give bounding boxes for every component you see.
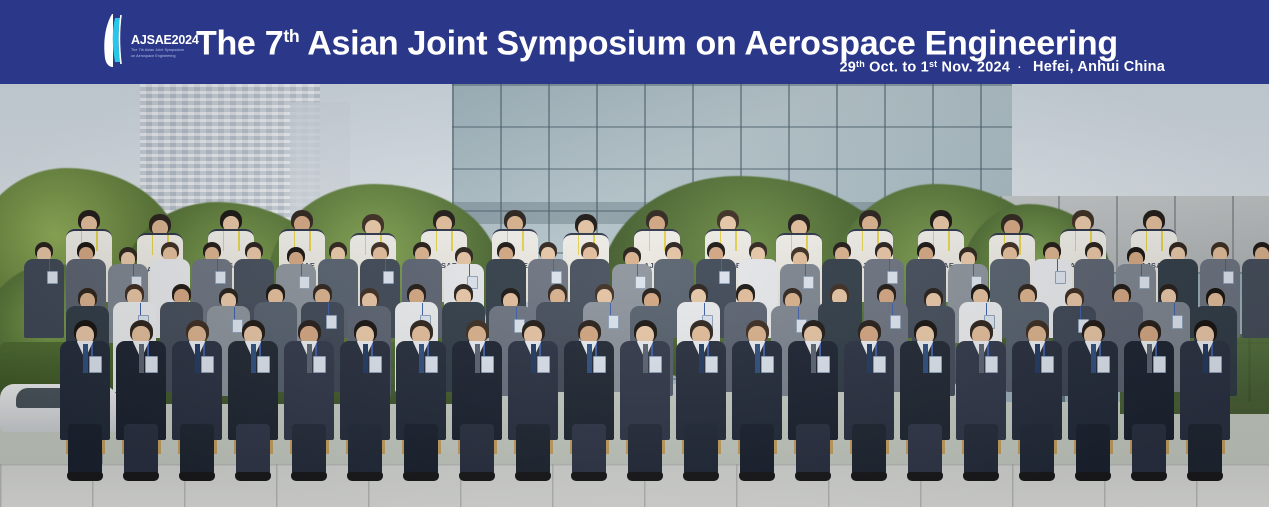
- person: [1180, 320, 1230, 440]
- logo-subtitle-line1: The 7th Asian Joint Symposium: [131, 48, 199, 53]
- conference-badge: [369, 356, 382, 373]
- person: [116, 320, 166, 440]
- seated-legs: [348, 424, 382, 476]
- conference-badge: [1055, 271, 1065, 285]
- event-banner: AJSAE2024 The 7th Asian Joint Symposium …: [0, 0, 1269, 84]
- logo-title: AJSAE2024: [131, 34, 199, 47]
- person: [732, 320, 782, 440]
- necktie: [419, 344, 424, 373]
- necktie: [1091, 344, 1096, 373]
- person: [1012, 320, 1062, 440]
- start-day: 29: [839, 59, 856, 75]
- necktie: [699, 344, 704, 373]
- person: [508, 320, 558, 440]
- necktie: [1203, 344, 1208, 373]
- conference-badge: [551, 271, 561, 285]
- conference-badge: [649, 356, 662, 373]
- seated-legs: [852, 424, 886, 476]
- person: [956, 320, 1006, 440]
- person: [172, 320, 222, 440]
- lanyard: [1174, 303, 1176, 315]
- necktie: [755, 344, 760, 373]
- necktie: [307, 344, 312, 373]
- shoes: [179, 472, 215, 481]
- person: [1068, 320, 1118, 440]
- conference-badge: [257, 356, 270, 373]
- torso: [24, 259, 64, 338]
- separator-dot: ·: [1010, 59, 1029, 75]
- title-before-ordinal: The 7: [196, 25, 283, 63]
- lanyard: [892, 303, 894, 315]
- necktie: [587, 344, 592, 373]
- lanyard: [140, 303, 142, 315]
- seated-legs: [404, 424, 438, 476]
- person: [228, 320, 278, 440]
- seated-legs: [124, 424, 158, 476]
- necktie: [867, 344, 872, 373]
- lanyard: [1080, 307, 1082, 319]
- seated-legs: [964, 424, 998, 476]
- lanyard: [704, 303, 706, 315]
- shoes: [515, 472, 551, 481]
- necktie: [811, 344, 816, 373]
- lanyard: [469, 264, 471, 275]
- conference-badge: [481, 356, 494, 373]
- person: [396, 320, 446, 440]
- conference-badge: [313, 356, 326, 373]
- necktie: [363, 344, 368, 373]
- lanyard: [133, 264, 135, 275]
- conference-badge: [47, 271, 57, 285]
- person: [24, 242, 64, 338]
- conference-badge: [1223, 271, 1233, 285]
- lanyard: [49, 259, 51, 270]
- event-location: Hefei, Anhui China: [1029, 59, 1165, 75]
- person: [284, 320, 334, 440]
- start-month: Oct. to 1: [865, 59, 929, 75]
- event-date-location: 29th Oct. to 1st Nov. 2024·Hefei, Anhui …: [839, 59, 1165, 75]
- person: [900, 320, 950, 440]
- page-title: The 7th Asian Joint Symposium on Aerospa…: [196, 16, 1168, 64]
- necktie: [251, 344, 256, 373]
- ajsae-wing-logo-icon: [102, 12, 128, 68]
- person: [60, 320, 110, 440]
- seated-legs: [516, 424, 550, 476]
- shoes: [123, 472, 159, 481]
- necktie: [195, 344, 200, 373]
- conference-badge: [873, 356, 886, 373]
- person: [620, 320, 670, 440]
- lanyard: [805, 264, 807, 275]
- shoes: [963, 472, 999, 481]
- seated-legs: [740, 424, 774, 476]
- lanyard: [217, 259, 219, 270]
- shoes: [1187, 472, 1223, 481]
- shoes: [571, 472, 607, 481]
- seated-legs: [1020, 424, 1054, 476]
- lanyard: [637, 264, 639, 275]
- person: [676, 320, 726, 440]
- seated-legs: [460, 424, 494, 476]
- shoes: [403, 472, 439, 481]
- shoes: [347, 472, 383, 481]
- lanyard: [328, 303, 330, 315]
- event-logo: AJSAE2024 The 7th Asian Joint Symposium …: [102, 11, 190, 69]
- shoes: [235, 472, 271, 481]
- shoes: [1075, 472, 1111, 481]
- conference-badge: [1209, 356, 1222, 373]
- seated-legs: [68, 424, 102, 476]
- conference-badge: [425, 356, 438, 373]
- conference-banner-page: AJSAE2024 The 7th Asian Joint Symposium …: [0, 0, 1269, 507]
- necktie: [923, 344, 928, 373]
- conference-badge: [215, 271, 225, 285]
- lanyard: [973, 264, 975, 275]
- person: [452, 320, 502, 440]
- person: [844, 320, 894, 440]
- conference-badge: [719, 271, 729, 285]
- conference-badge: [929, 356, 942, 373]
- lanyard: [234, 307, 236, 319]
- lanyard: [610, 303, 612, 315]
- necktie: [1035, 344, 1040, 373]
- necktie: [83, 344, 88, 373]
- conference-badge: [761, 356, 774, 373]
- necktie: [531, 344, 536, 373]
- person: [340, 320, 390, 440]
- conference-badge: [985, 356, 998, 373]
- conference-badge: [1097, 356, 1110, 373]
- necktie: [139, 344, 144, 373]
- seated-legs: [908, 424, 942, 476]
- conference-badge: [145, 356, 158, 373]
- lanyard: [385, 259, 387, 270]
- seated-legs: [236, 424, 270, 476]
- necktie: [643, 344, 648, 373]
- lanyard: [516, 307, 518, 319]
- lanyard: [986, 303, 988, 315]
- necktie: [475, 344, 480, 373]
- shoes: [739, 472, 775, 481]
- conference-badge: [1153, 356, 1166, 373]
- conference-badge: [817, 356, 830, 373]
- shoes: [67, 472, 103, 481]
- shoes: [851, 472, 887, 481]
- seated-legs: [1188, 424, 1222, 476]
- person: [564, 320, 614, 440]
- lanyard: [1141, 264, 1143, 275]
- seated-legs: [1132, 424, 1166, 476]
- conference-badge: [593, 356, 606, 373]
- title-after-ordinal: Asian Joint Symposium on Aerospace Engin…: [299, 25, 1117, 63]
- lanyard: [1057, 259, 1059, 270]
- shoes: [627, 472, 663, 481]
- lanyard: [553, 259, 555, 270]
- torso: [1242, 259, 1269, 338]
- shoes: [1019, 472, 1055, 481]
- seated-legs: [1076, 424, 1110, 476]
- seated-legs: [572, 424, 606, 476]
- necktie: [979, 344, 984, 373]
- seated-legs: [796, 424, 830, 476]
- conference-badge: [89, 356, 102, 373]
- necktie: [1147, 344, 1152, 373]
- conference-badge: [201, 356, 214, 373]
- person: [1242, 242, 1269, 338]
- conference-badge: [537, 356, 550, 373]
- shoes: [795, 472, 831, 481]
- logo-subtitle-line2: on Aerospace Engineering: [131, 54, 199, 59]
- start-day-suffix: th: [856, 59, 865, 69]
- end-date-text: Nov. 2024: [937, 59, 1010, 75]
- shoes: [291, 472, 327, 481]
- lanyard: [798, 307, 800, 319]
- group-photo: AJSAEAJSAEAJSAEAJSAEAJSAEAJSAEAJSAEAJSAE…: [0, 84, 1269, 507]
- lanyard: [721, 259, 723, 270]
- lanyard: [301, 264, 303, 275]
- shoes: [1131, 472, 1167, 481]
- conference-badge: [705, 356, 718, 373]
- person: [788, 320, 838, 440]
- lanyard: [1225, 259, 1227, 270]
- person: [1124, 320, 1174, 440]
- shoes: [459, 472, 495, 481]
- lanyard: [889, 259, 891, 270]
- conference-badge: [383, 271, 393, 285]
- title-ordinal-suffix: th: [283, 26, 299, 46]
- lanyard: [422, 303, 424, 315]
- seated-legs: [684, 424, 718, 476]
- shoes: [907, 472, 943, 481]
- seated-legs: [180, 424, 214, 476]
- seated-legs: [292, 424, 326, 476]
- shoes: [683, 472, 719, 481]
- seated-legs: [628, 424, 662, 476]
- conference-badge: [887, 271, 897, 285]
- conference-badge: [1041, 356, 1054, 373]
